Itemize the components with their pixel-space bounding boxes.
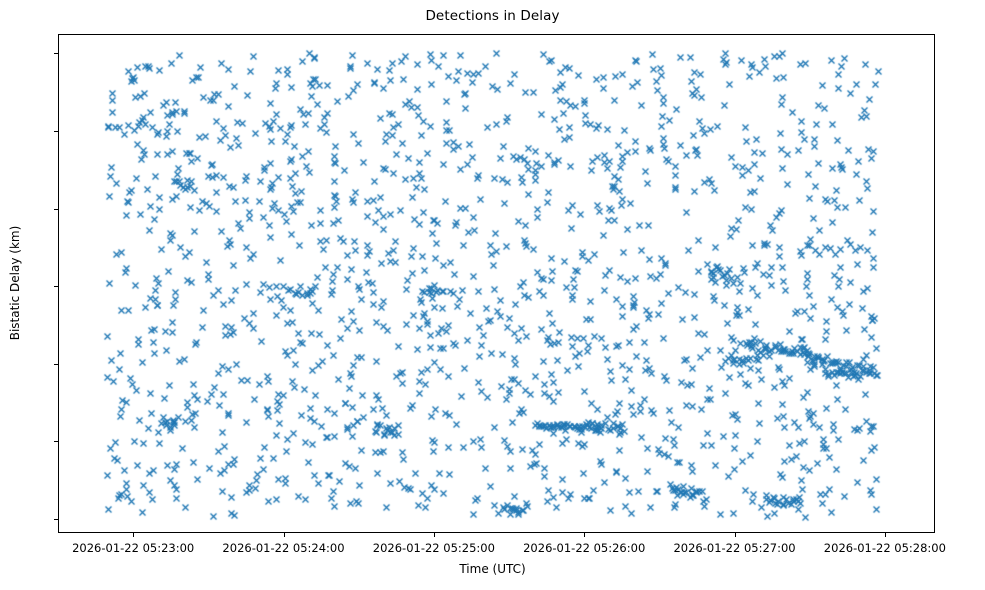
plot-axes bbox=[58, 34, 935, 533]
x-tick-label: 2026-01-22 05:26:00 bbox=[523, 541, 645, 555]
x-tick-mark bbox=[885, 533, 886, 537]
x-tick-mark bbox=[434, 533, 435, 537]
matplotlib-figure: Detections in Delay 0102030405060 2026-0… bbox=[0, 0, 985, 590]
x-tick-mark bbox=[735, 533, 736, 537]
x-tick-mark bbox=[584, 533, 585, 537]
y-axis-label: Bistatic Delay (km) bbox=[8, 226, 22, 341]
x-tick-mark bbox=[284, 533, 285, 537]
x-tick-label: 2026-01-22 05:23:00 bbox=[72, 541, 194, 555]
x-tick-mark bbox=[133, 533, 134, 537]
x-axis-ticks: 2026-01-22 05:23:002026-01-22 05:24:0020… bbox=[0, 533, 985, 563]
x-tick-label: 2026-01-22 05:28:00 bbox=[824, 541, 946, 555]
scatter-plot-canvas bbox=[59, 35, 935, 533]
x-tick-label: 2026-01-22 05:25:00 bbox=[373, 541, 495, 555]
chart-title: Detections in Delay bbox=[0, 8, 985, 24]
x-tick-label: 2026-01-22 05:24:00 bbox=[222, 541, 344, 555]
x-axis-label: Time (UTC) bbox=[0, 562, 985, 576]
x-tick-label: 2026-01-22 05:27:00 bbox=[673, 541, 795, 555]
